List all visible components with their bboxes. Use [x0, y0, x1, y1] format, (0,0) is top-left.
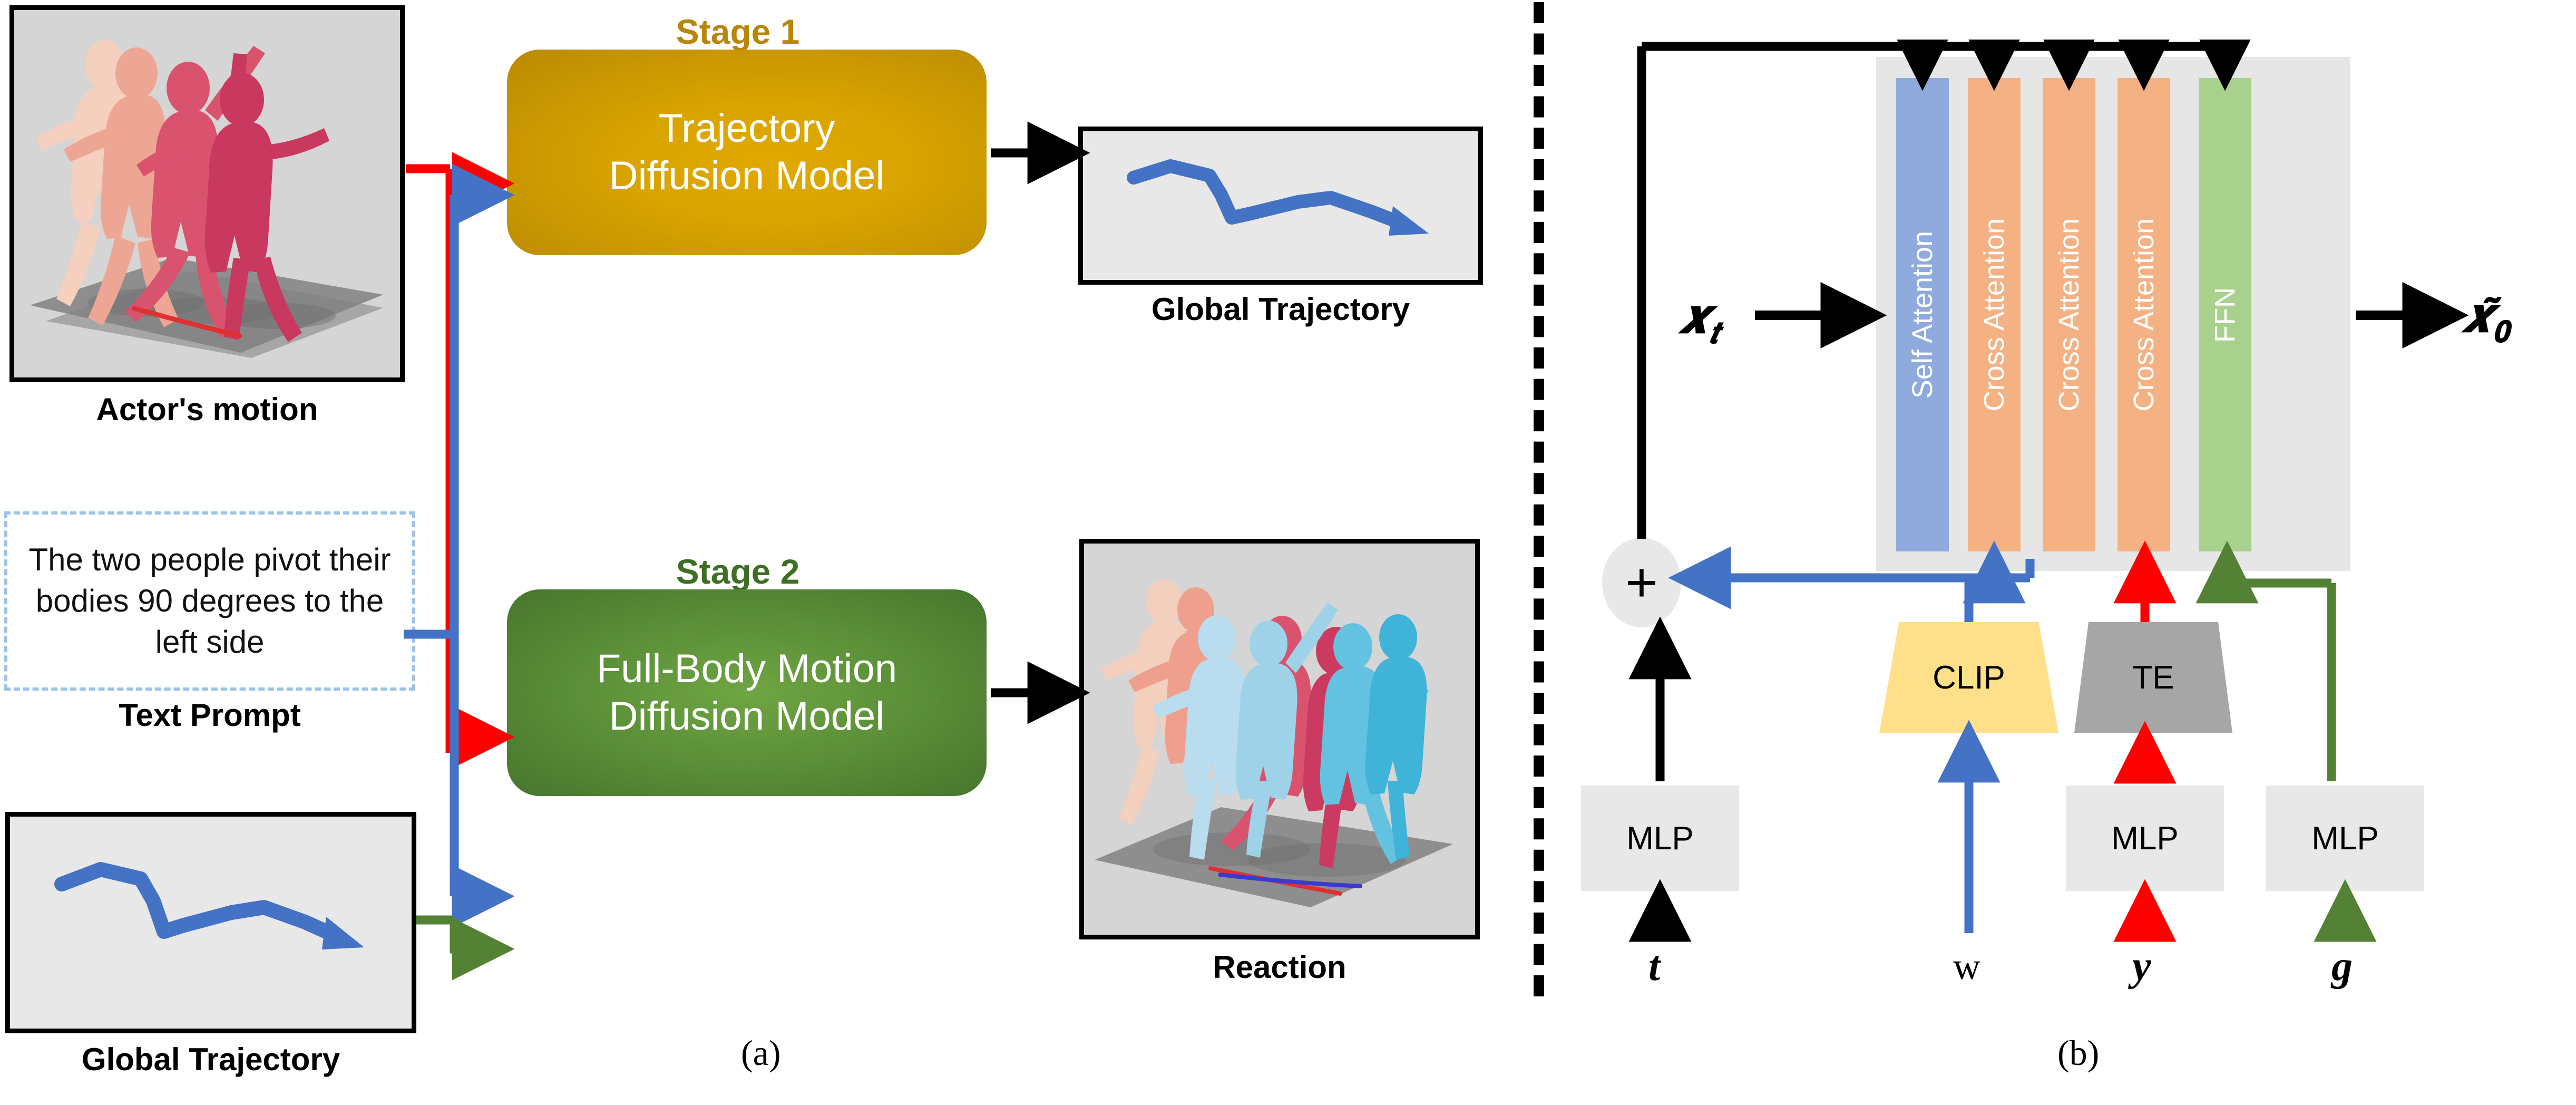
- stage2-label-line1: Full-Body Motion: [597, 645, 897, 693]
- trajectory-curve-output: [1083, 131, 1478, 280]
- mlp-timestep[interactable]: MLP: [1581, 786, 1739, 891]
- stage1-label-line2: Diffusion Model: [609, 152, 884, 200]
- actor-motion-render: [14, 10, 400, 377]
- stage2-box[interactable]: Full-Body Motion Diffusion Model: [507, 589, 987, 796]
- panel-divider: [1534, 2, 1544, 996]
- stage2-title: Stage 2: [506, 551, 970, 592]
- cross-attention-block-1[interactable]: Cross Attention: [1968, 78, 2021, 551]
- global-trajectory-input-caption: Global Trajectory: [5, 1041, 416, 1078]
- cross-attention-block-2[interactable]: Cross Attention: [2043, 78, 2095, 551]
- reaction-caption: Reaction: [1079, 949, 1480, 985]
- xt-text: 𝒙𝒕: [1679, 291, 1720, 343]
- sum-node: +: [1602, 538, 1681, 627]
- global-trajectory-output-panel: [1078, 127, 1483, 285]
- figure-caption-b: (b): [2057, 1032, 2099, 1074]
- self-attention-label: Self Attention: [1906, 231, 1939, 399]
- global-trajectory-input-panel: [5, 812, 416, 1033]
- mlp-actor[interactable]: MLP: [2066, 786, 2224, 891]
- reaction-render: [1084, 544, 1475, 935]
- text-prompt-caption: Text Prompt: [4, 697, 415, 733]
- mlp-actor-label: MLP: [2111, 820, 2178, 857]
- mlp-timestep-label: MLP: [1626, 820, 1693, 857]
- edge-mlp-trajectory-bus: [2227, 583, 2331, 781]
- cross-attention-label-3: Cross Attention: [2128, 218, 2160, 411]
- te-label: TE: [2132, 659, 2174, 696]
- mlp-trajectory[interactable]: MLP: [2266, 786, 2424, 891]
- input-w-label: w: [1953, 945, 1980, 988]
- input-g-label: g: [2331, 943, 2353, 991]
- stage1-title: Stage 1: [506, 12, 970, 52]
- input-t-label: t: [1648, 943, 1660, 991]
- cross-attention-label-1: Cross Attention: [1978, 218, 2011, 411]
- plus-icon: +: [1625, 551, 1658, 615]
- ffn-block[interactable]: FFN: [2199, 78, 2251, 551]
- ffn-label: FFN: [2209, 287, 2241, 343]
- output-x0-label: 𝒙̃𝟎: [2462, 289, 2509, 350]
- cross-attention-label-2: Cross Attention: [2053, 218, 2085, 411]
- self-attention-block[interactable]: Self Attention: [1896, 78, 1949, 551]
- stage1-label-line1: Trajectory: [609, 105, 884, 152]
- text-prompt-box[interactable]: The two people pivot their bodies 90 deg…: [4, 511, 415, 691]
- trajectory-curve-input: [10, 817, 412, 1029]
- actor-motion-caption: Actor's motion: [9, 391, 405, 428]
- input-y-label: y: [2132, 943, 2151, 991]
- reaction-panel: [1079, 539, 1480, 939]
- figure-caption-a: (a): [741, 1032, 780, 1074]
- text-prompt-value: The two people pivot their bodies 90 deg…: [20, 539, 399, 663]
- clip-encoder[interactable]: CLIP: [1879, 622, 2058, 733]
- edge-traj-to-stage2: [454, 920, 499, 949]
- clip-label: CLIP: [1933, 659, 2005, 696]
- cross-attention-block-3[interactable]: Cross Attention: [2118, 78, 2170, 551]
- x0-text: 𝒙̃𝟎: [2462, 290, 2509, 342]
- actor-motion-panel: [9, 5, 405, 382]
- te-encoder[interactable]: TE: [2074, 622, 2232, 733]
- input-xt-label: 𝒙𝒕: [1679, 290, 1720, 351]
- stage2-label-line2: Diffusion Model: [597, 693, 897, 740]
- global-trajectory-output-caption: Global Trajectory: [1078, 291, 1483, 327]
- stage1-box[interactable]: Trajectory Diffusion Model: [507, 50, 987, 255]
- mlp-trajectory-label: MLP: [2311, 820, 2378, 857]
